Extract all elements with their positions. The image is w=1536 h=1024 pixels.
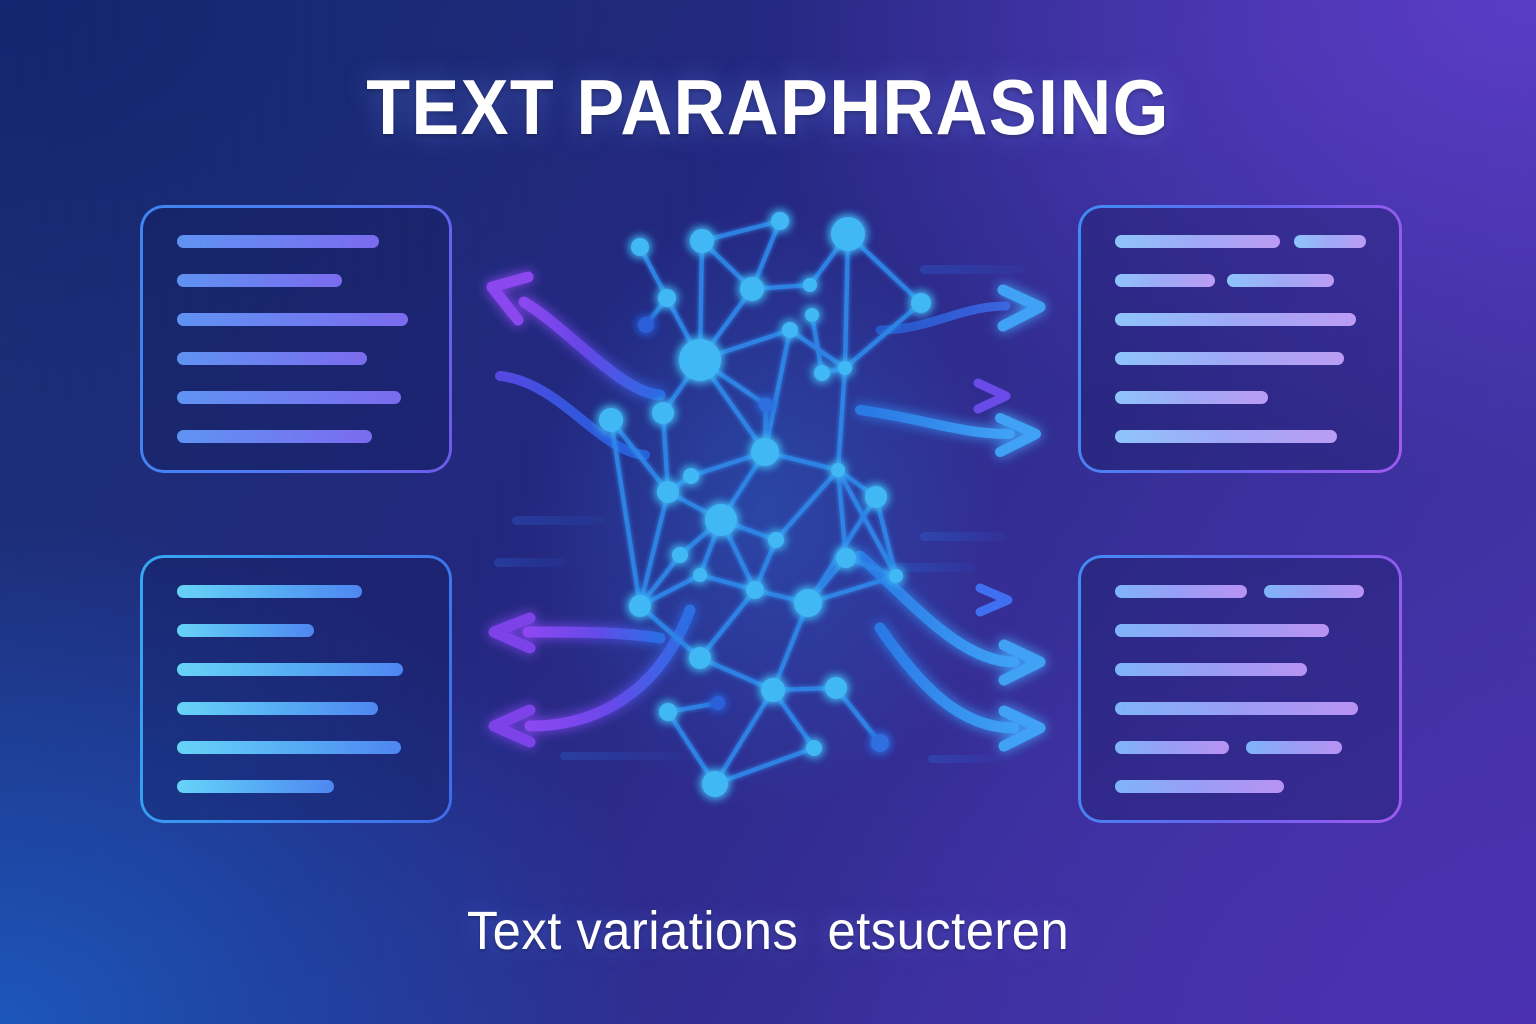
decorative-ghost-bars-right [890,265,1026,763]
text-line [177,663,449,677]
text-line [1115,585,1399,599]
flow-arrow-right-4 [860,410,1036,452]
flow-arrow-right-2 [880,306,1006,330]
text-bar [177,391,401,404]
paraphrased-document-top-right[interactable] [1078,205,1402,473]
flow-arrows-layer [0,0,1536,1024]
text-bar [1115,624,1329,637]
text-bar [177,624,314,637]
flow-arrow-right-6 [860,556,1040,680]
card-body [1081,558,1399,820]
text-bar [1115,741,1229,754]
text-bar [1115,274,1215,287]
text-line [177,235,449,249]
text-line [1115,235,1399,249]
text-bar [1115,780,1284,793]
network-edges [611,221,921,784]
text-line [177,624,449,638]
flow-arrow-left-2 [500,376,645,455]
flow-arrow-left-3 [494,618,660,648]
text-bar [1115,430,1337,443]
page-caption: Text variations etsucteren [46,900,1490,962]
card-body [1081,208,1399,470]
text-line [1115,352,1399,366]
text-line [177,391,449,405]
text-bar [1264,585,1364,598]
text-bar [1294,235,1366,248]
text-bar [177,702,378,715]
text-line [1115,624,1399,638]
text-line [1115,663,1399,677]
network-glow [535,210,995,810]
flow-arrow-left-4 [494,610,690,742]
text-bar [1115,585,1247,598]
text-line [177,702,449,716]
text-bar [1227,274,1334,287]
text-bar [1115,663,1307,676]
text-line [1115,430,1399,444]
text-line [177,430,449,444]
flow-arrow-left-1 [492,277,660,395]
text-line [177,313,449,327]
text-bar [1115,391,1268,404]
text-bar [1115,235,1280,248]
text-line [177,274,449,288]
text-bar [177,663,403,676]
text-line [177,780,449,794]
text-bar [1246,741,1342,754]
text-line [1115,780,1399,794]
paraphrased-document-bottom-right[interactable] [1078,555,1402,823]
flow-arrow-right-7 [880,628,1040,746]
text-bar [177,780,334,793]
text-line [1115,702,1399,716]
source-document-top-left[interactable] [140,205,452,473]
flow-arrow-right-3 [900,383,1006,409]
page-title: TEXT PARAPHRASING [61,62,1474,153]
text-line [1115,391,1399,405]
network-nodes [599,212,931,797]
text-line [177,741,449,755]
text-line [177,585,449,599]
text-line [1115,313,1399,327]
flow-arrow-right-1 [896,290,1040,326]
card-body [143,208,449,470]
text-bar [177,741,401,754]
text-bar [177,274,342,287]
text-bar [177,352,367,365]
source-document-bottom-left[interactable] [140,555,452,823]
text-bar [177,585,362,598]
neural-network-graph [0,0,1536,1024]
card-body [143,558,449,820]
text-bar [177,235,379,248]
text-line [177,352,449,366]
text-bar [177,313,408,326]
diagram-canvas: TEXT PARAPHRASING Text variations etsuct… [0,0,1536,1024]
grain-overlay [0,0,1536,1024]
text-line [1115,741,1399,755]
text-bar [177,430,372,443]
decorative-ghost-bars-left [494,516,680,760]
text-bar [1115,352,1344,365]
text-bar [1115,702,1358,715]
text-line [1115,274,1399,288]
flow-arrow-right-5 [900,588,1008,612]
text-bar [1115,313,1356,326]
